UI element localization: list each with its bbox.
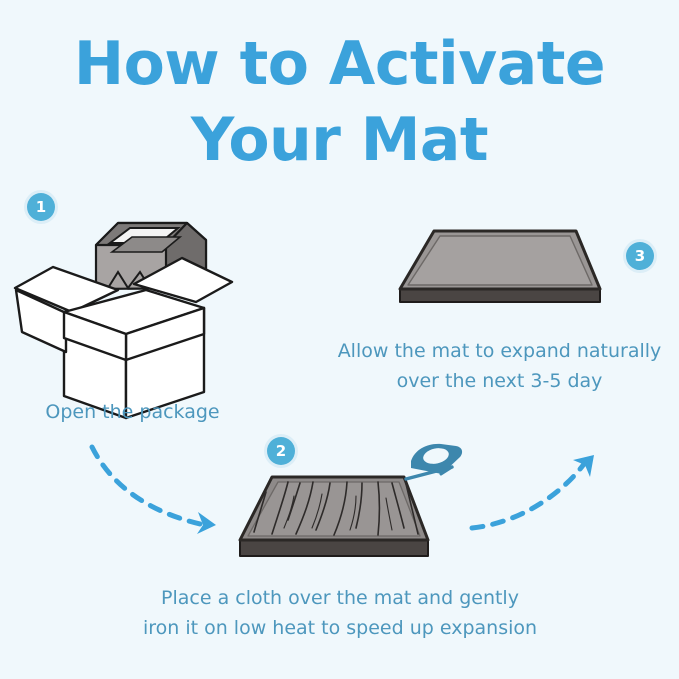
step-caption-2-line-1: Place a cloth over the mat and gently xyxy=(120,583,560,613)
step-caption-3-line-2: over the next 3-5 day xyxy=(320,366,679,396)
iron-icon xyxy=(406,444,462,479)
open-box-with-mat-icon xyxy=(15,223,232,418)
page-title-line-1: How to Activate xyxy=(0,26,679,102)
step-caption-2-line-2: iron it on low heat to speed up expansio… xyxy=(120,613,560,643)
page-title-line-2: Your Mat xyxy=(0,102,679,178)
step-caption-1-line-1: Open the package xyxy=(0,397,265,427)
arrow-step2-to-step3 xyxy=(472,455,594,528)
step-badge-3: 3 xyxy=(626,242,654,270)
flat-expanded-mat-icon xyxy=(400,231,600,302)
step-caption-3-line-1: Allow the mat to expand naturally xyxy=(320,336,679,366)
step-caption-2: Place a cloth over the mat and gently ir… xyxy=(120,583,560,643)
arrow-step1-to-step2 xyxy=(92,447,216,534)
step-badge-2: 2 xyxy=(267,437,295,465)
infographic-canvas: How to Activate Your Mat xyxy=(0,0,679,679)
page-title: How to Activate Your Mat xyxy=(0,26,679,178)
step-badge-1: 1 xyxy=(27,193,55,221)
step-caption-3: Allow the mat to expand naturally over t… xyxy=(320,336,679,396)
step-caption-1: Open the package xyxy=(0,397,265,427)
